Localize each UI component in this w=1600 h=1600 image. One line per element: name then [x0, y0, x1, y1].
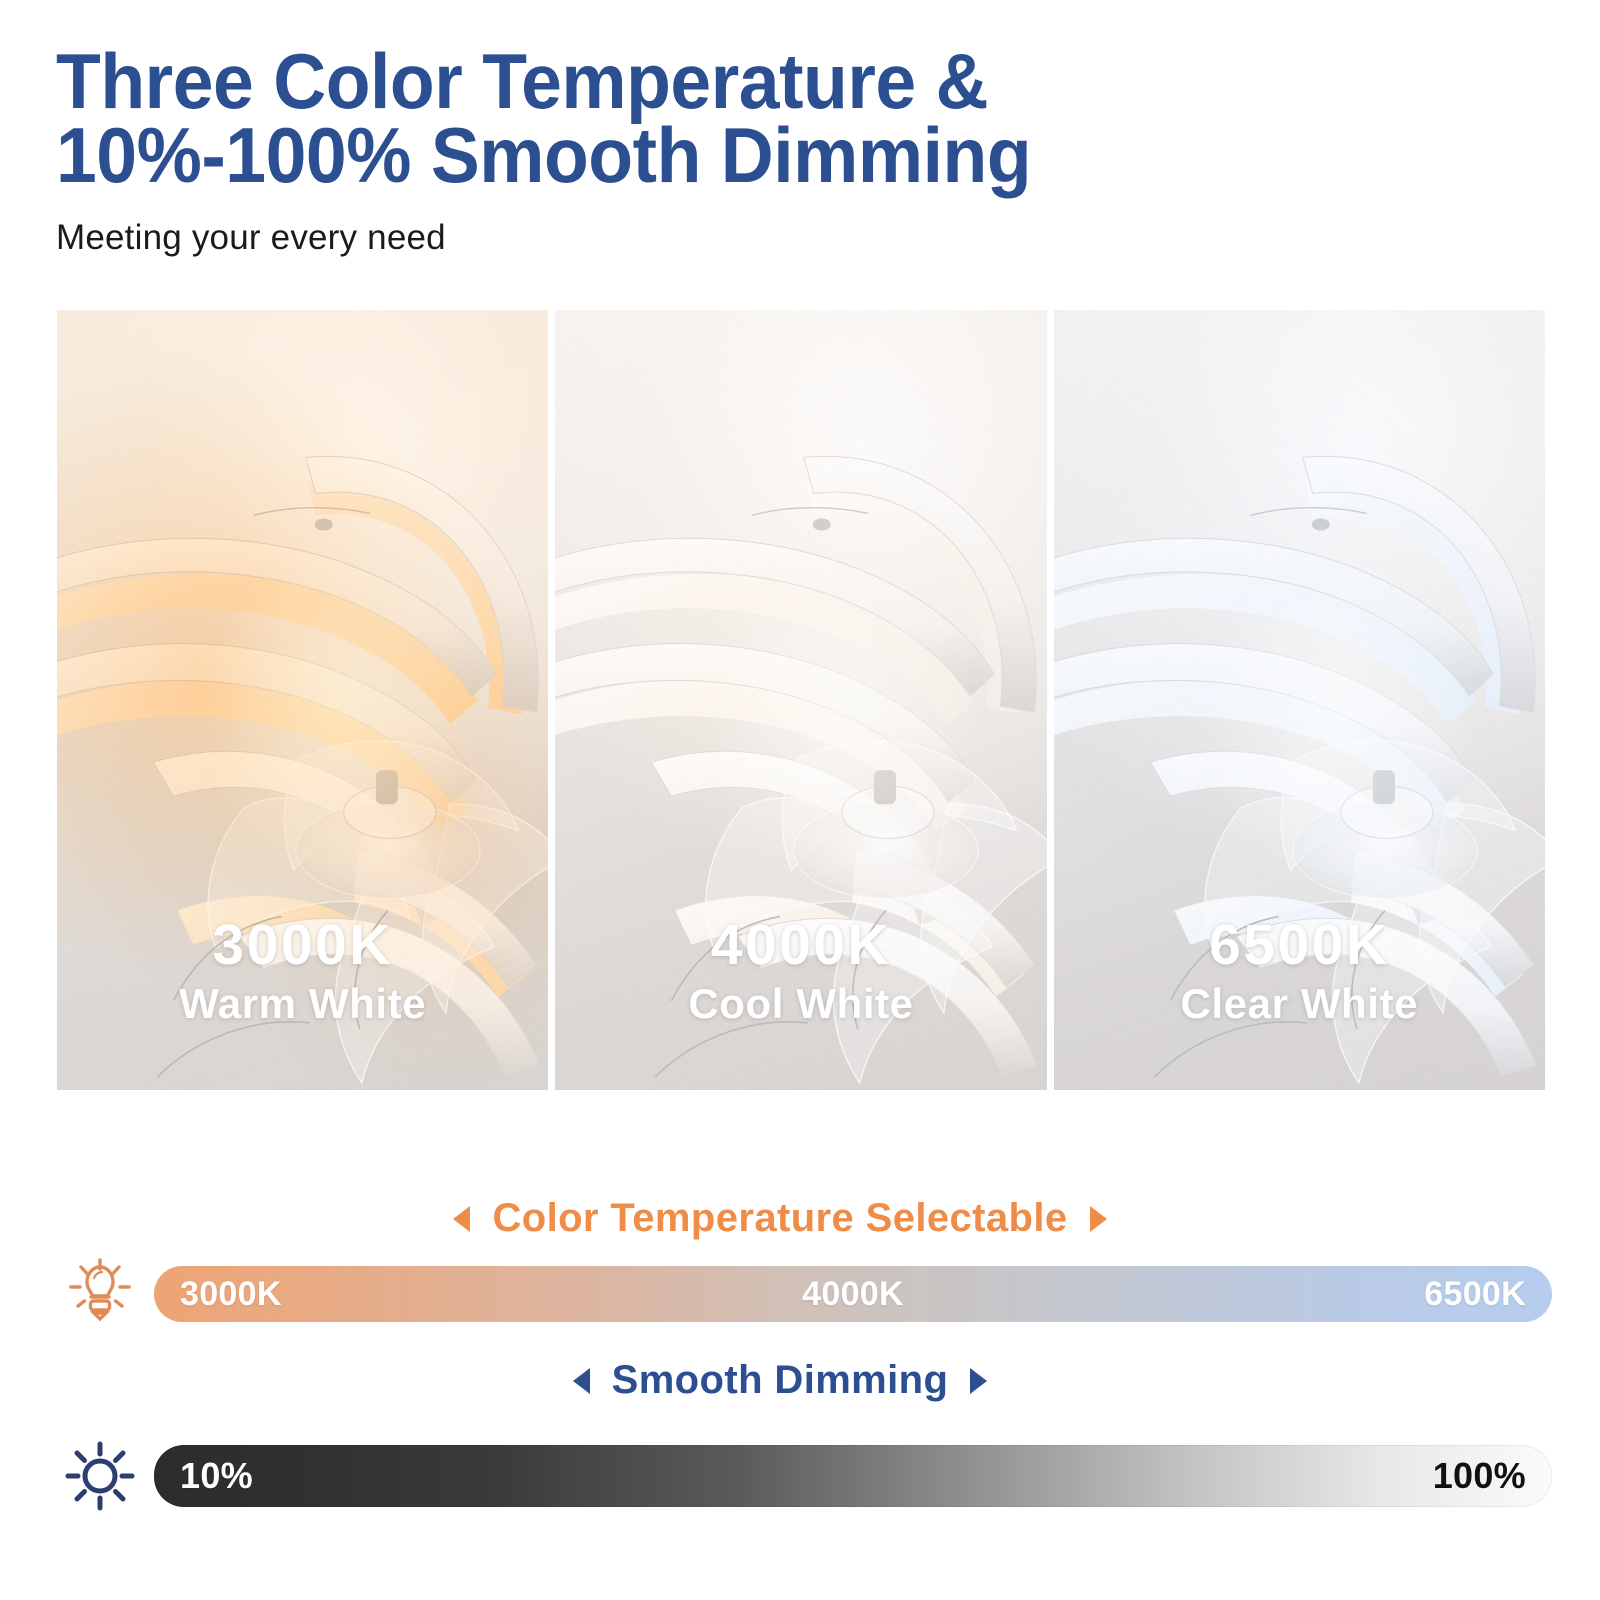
smooth-dimming-heading: Smooth Dimming — [330, 1358, 1230, 1403]
lightbulb-icon — [52, 1248, 148, 1340]
panel-caption: 4000K Cool White — [555, 917, 1046, 1026]
smooth-dimming-slider-row[interactable]: 10% 100% — [52, 1424, 1552, 1528]
right-triangle-icon — [1090, 1206, 1107, 1232]
panel-kelvin-label: 4000K — [555, 917, 1046, 974]
panel-name-label: Clear White — [1054, 982, 1545, 1026]
dim-start-label: 10% — [180, 1455, 253, 1497]
right-triangle-icon — [970, 1368, 987, 1394]
panel-name-label: Warm White — [57, 982, 548, 1026]
color-temperature-gradient-bar[interactable]: 3000K 4000K 6500K — [154, 1266, 1552, 1322]
left-triangle-icon — [573, 1368, 590, 1394]
color-temperature-panel-group: 3000K Warm White — [57, 310, 1545, 1090]
sun-icon — [52, 1430, 148, 1522]
color-temperature-heading-label: Color Temperature Selectable — [492, 1196, 1067, 1241]
panel-4000k[interactable]: 4000K Cool White — [555, 310, 1046, 1090]
panel-name-label: Cool White — [555, 982, 1046, 1026]
temp-end-label: 6500K — [1424, 1275, 1526, 1314]
page-subtitle: Meeting your every need — [56, 218, 1556, 258]
dimming-gradient-bar[interactable]: 10% 100% — [154, 1445, 1552, 1507]
panel-3000k[interactable]: 3000K Warm White — [57, 310, 548, 1090]
panel-caption: 3000K Warm White — [57, 917, 548, 1026]
temp-mid-label: 4000K — [802, 1275, 904, 1314]
panel-caption: 6500K Clear White — [1054, 917, 1545, 1026]
smooth-dimming-heading-label: Smooth Dimming — [612, 1358, 949, 1403]
page-title: Three Color Temperature & 10%-100% Smoot… — [56, 44, 1466, 192]
dim-end-label: 100% — [1433, 1455, 1526, 1497]
panel-kelvin-label: 6500K — [1054, 917, 1545, 974]
header: Three Color Temperature & 10%-100% Smoot… — [56, 44, 1556, 258]
left-triangle-icon — [453, 1206, 470, 1232]
panel-kelvin-label: 3000K — [57, 917, 548, 974]
panel-6500k[interactable]: 6500K Clear White — [1054, 310, 1545, 1090]
color-temperature-heading: Color Temperature Selectable — [300, 1196, 1260, 1241]
temp-start-label: 3000K — [180, 1275, 282, 1314]
color-temperature-slider-row[interactable]: 3000K 4000K 6500K — [52, 1248, 1552, 1340]
